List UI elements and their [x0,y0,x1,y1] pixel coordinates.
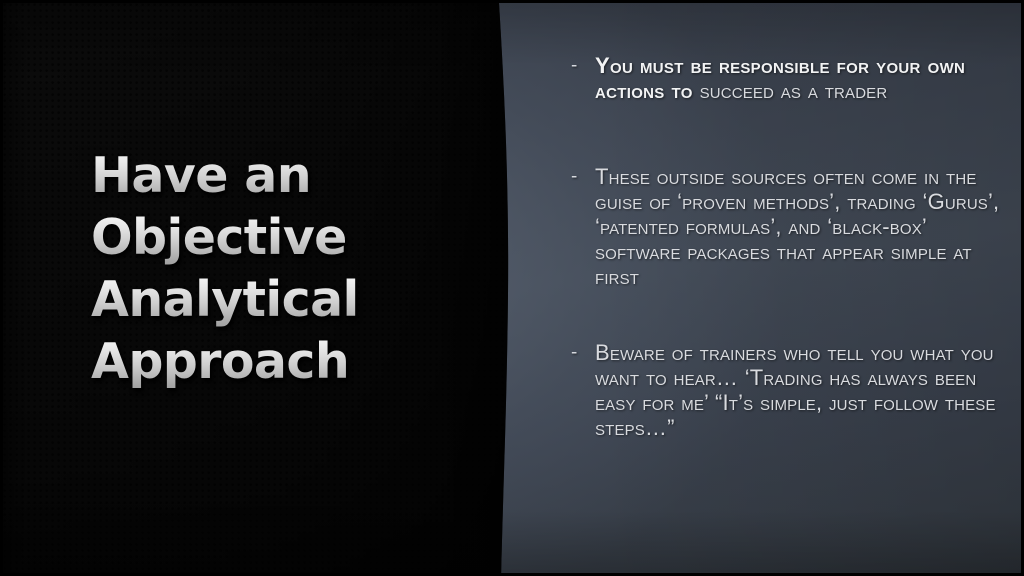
bullet-dash-icon: - [571,53,595,78]
title-line-2: Objective [91,207,431,269]
title-line-4: Approach [91,331,431,393]
title-line-3: Analytical [91,269,431,331]
bullet-item-1-text: You must be responsible for your own act… [595,53,1007,103]
bullet-list: - You must be responsible for your own a… [571,53,1007,440]
bullet-item-1: - You must be responsible for your own a… [571,53,1007,103]
bullet-item-1-rest: succeed as a trader [700,78,888,103]
bullet-item-2: - These outside sources often come in th… [571,164,1007,289]
page-title: Have an Objective Analytical Approach [91,145,431,393]
bullet-dash-icon: - [571,164,595,189]
bullet-item-3-text: Beware of trainers who tell you what you… [595,340,1007,440]
bullet-dash-icon: - [571,340,595,365]
slide-canvas: Have an Objective Analytical Approach - … [0,0,1024,576]
title-line-1: Have an [91,145,431,207]
bullet-item-3: - Beware of trainers who tell you what y… [571,340,1007,440]
bullet-item-2-text: These outside sources often come in the … [595,164,1007,289]
